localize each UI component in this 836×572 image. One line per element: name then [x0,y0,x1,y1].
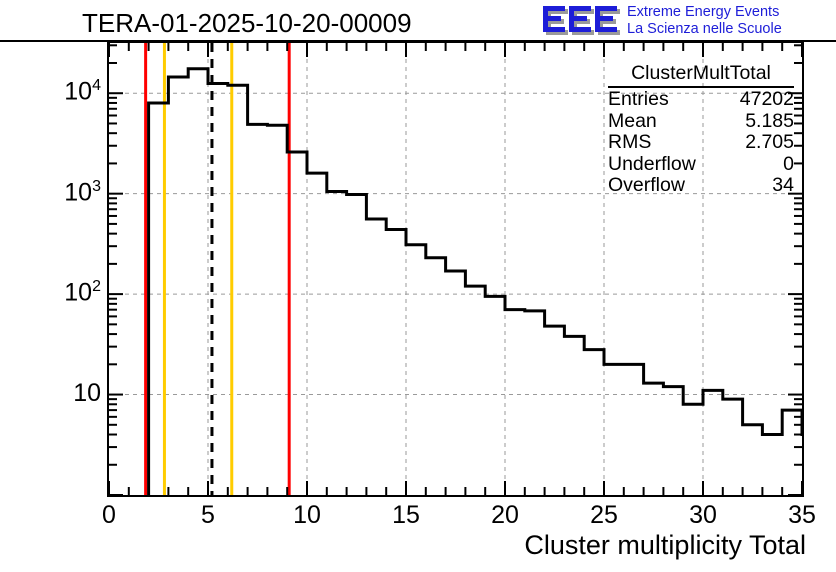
y-tick-label: 104 [64,77,101,106]
stats-box: ClusterMultTotal Entries47202Mean5.185RM… [608,62,794,197]
stats-row: Underflow0 [608,154,794,176]
stats-box-title: ClusterMultTotal [608,62,794,88]
page-title: TERA-01-2025-10-20-00009 [82,8,412,39]
x-tick-label: 35 [788,501,816,530]
stats-key: Underflow [608,154,696,176]
x-tick-label: 0 [102,501,116,530]
eee-logo: Extreme Energy Events La Scienza nelle S… [541,3,833,41]
logo-line-1: Extreme Energy Events [627,4,782,21]
stats-box-rows: Entries47202Mean5.185RMS2.705Underflow0O… [608,89,794,197]
stats-value: 47202 [740,89,794,111]
root-canvas: TERA-01-2025-10-20-00009 Extreme Energy … [0,0,836,572]
stats-row: RMS2.705 [608,132,794,154]
stats-value: 5.185 [745,111,794,133]
eee-logo-text: Extreme Energy Events La Scienza nelle S… [627,4,782,38]
stats-row: Overflow34 [608,175,794,197]
y-tick-label: 103 [64,178,101,207]
x-tick-label: 20 [491,501,519,530]
stats-key: RMS [608,132,651,154]
x-tick-label: 30 [689,501,717,530]
stats-value: 34 [772,175,794,197]
stats-value: 0 [783,154,794,176]
x-tick-label: 15 [392,501,420,530]
stats-key: Entries [608,89,669,111]
stats-key: Overflow [608,175,685,197]
x-tick-label: 10 [293,501,321,530]
eee-logo-icon [541,5,621,39]
stats-row: Entries47202 [608,89,794,111]
x-tick-label: 25 [590,501,618,530]
stats-value: 2.705 [745,132,794,154]
stats-row: Mean5.185 [608,111,794,133]
logo-line-2: La Scienza nelle Scuole [627,21,782,38]
stats-key: Mean [608,111,657,133]
x-tick-label: 5 [201,501,215,530]
x-axis-title: Cluster multiplicity Total [524,530,806,561]
y-tick-label: 102 [64,278,101,307]
y-tick-label: 10 [73,379,101,408]
